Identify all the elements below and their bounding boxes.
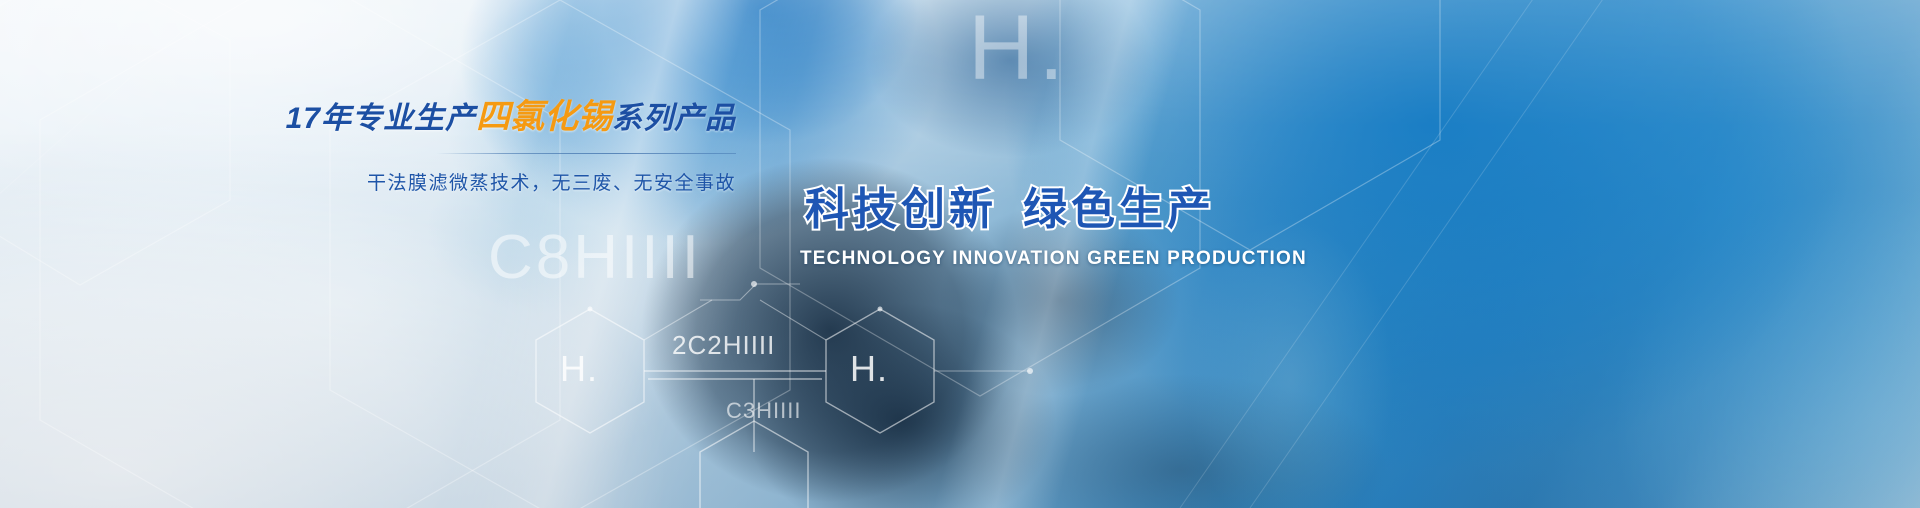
watermark-h-hexagon-left: H.	[560, 348, 598, 390]
watermark-2c2hiiii: 2C2HIIII	[672, 330, 775, 361]
headline-subtitle: 干法膜滤微蒸技术，无三废、无安全事故	[0, 168, 736, 195]
headline-suffix: 系列产品	[612, 102, 736, 135]
slogan-chinese-part1: 科技创新	[805, 185, 997, 234]
slogan-block: 科技创新绿色生产 TECHNOLOGY INNOVATION GREEN PRO…	[800, 186, 1220, 270]
headline-prefix: 17年专业生产	[286, 102, 476, 135]
slogan-chinese: 科技创新绿色生产	[800, 186, 1220, 234]
slogan-chinese-part2: 绿色生产	[1023, 185, 1215, 234]
watermark-h-large: H.	[968, 0, 1068, 101]
headline-block: 17年专业生产四氯化锡系列产品 干法膜滤微蒸技术，无三废、无安全事故	[0, 96, 780, 195]
watermark-h-hexagon-right: H.	[850, 348, 888, 390]
headline-text: 17年专业生产四氯化锡系列产品	[0, 96, 736, 139]
watermark-c8hiiii: C8HIIII	[488, 222, 702, 293]
headline-divider	[436, 153, 736, 154]
hero-banner: H. C8HIIII 2C2HIIII H. H. C3HIIII 17年专业生…	[0, 0, 1920, 508]
slogan-english: TECHNOLOGY INNOVATION GREEN PRODUCTION	[800, 248, 1220, 270]
headline-highlight: 四氯化锡	[476, 98, 612, 136]
watermark-c3hiiii: C3HIIII	[726, 398, 801, 424]
